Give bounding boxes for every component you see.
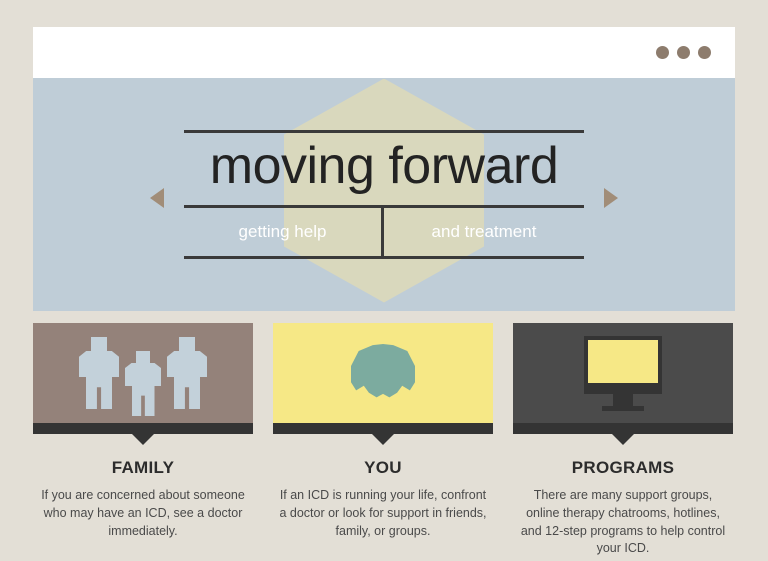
person-icon-1 [79, 337, 119, 409]
card-visual-you [273, 323, 493, 423]
head-silhouette-icon [351, 344, 415, 402]
card-you[interactable]: YOU If an ICD is running your life, conf… [273, 323, 493, 558]
hero-content: moving forward getting help and treatmen… [33, 78, 735, 311]
previous-slide-arrow-icon[interactable] [150, 188, 164, 208]
next-slide-arrow-icon[interactable] [604, 188, 618, 208]
window-controls[interactable] [656, 46, 711, 59]
three-people-icon [79, 337, 207, 409]
card-family[interactable]: FAMILY If you are concerned about someon… [33, 323, 253, 558]
card-visual-family [33, 323, 253, 423]
hero-title: moving forward [184, 133, 584, 204]
window-dot-icon-1[interactable] [656, 46, 669, 59]
card-body-family: If you are concerned about someone who m… [33, 487, 253, 540]
computer-monitor-icon [584, 336, 662, 411]
window-titlebar [33, 27, 735, 78]
card-title-programs: PROGRAMS [513, 458, 733, 478]
card-body-you: If an ICD is running your life, confront… [273, 487, 493, 540]
hero-rule-bottom [184, 256, 584, 259]
person-icon-3 [167, 337, 207, 409]
card-title-you: YOU [273, 458, 493, 478]
card-visual-programs [513, 323, 733, 423]
card-pointer-bar-programs [513, 423, 733, 434]
card-row: FAMILY If you are concerned about someon… [33, 323, 735, 558]
hero-subtitle-right: and treatment [384, 208, 584, 256]
card-title-family: FAMILY [33, 458, 253, 478]
card-body-programs: There are many support groups, online th… [513, 487, 733, 558]
card-pointer-bar-family [33, 423, 253, 434]
hero-subtitle-left: getting help [184, 208, 384, 256]
card-programs[interactable]: PROGRAMS There are many support groups, … [513, 323, 733, 558]
card-pointer-bar-you [273, 423, 493, 434]
hero-title-panel: moving forward getting help and treatmen… [184, 130, 584, 258]
hero-subtitle-row: getting help and treatment [184, 208, 584, 256]
window-dot-icon-2[interactable] [677, 46, 690, 59]
person-icon-2 [125, 351, 161, 416]
window-dot-icon-3[interactable] [698, 46, 711, 59]
browser-window: moving forward getting help and treatmen… [33, 27, 735, 311]
hero-banner: moving forward getting help and treatmen… [33, 78, 735, 311]
